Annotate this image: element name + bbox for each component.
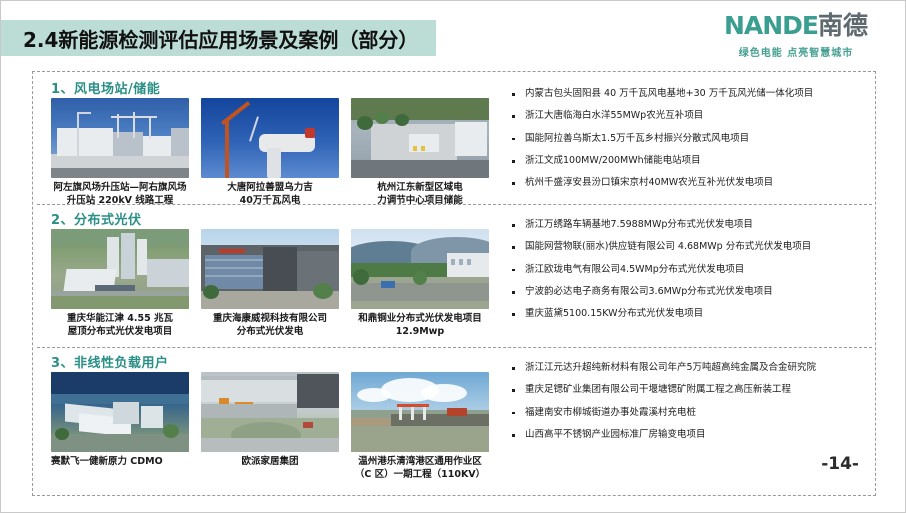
photo-card: 大唐阿拉善盟乌力吉40万千瓦风电 <box>201 98 339 208</box>
photo-caption: 欧派家居集团 <box>201 456 339 469</box>
photo-card: 赛默飞一健新原力 CDMO <box>51 372 189 482</box>
section-wind-storage: 1、风电场站/储能 <box>37 74 872 205</box>
section-nonlinear-load: 3、非线性负载用户 赛默飞一健新原力 CDMO <box>37 348 872 491</box>
photo-factory-campus <box>201 372 339 452</box>
photo-wind-turbine <box>201 98 339 178</box>
card-list: 阿左旗风场升压站—阿右旗风场升压站 220kV 线路工程 大唐阿拉善盟乌力吉40… <box>51 98 491 208</box>
photo-industrial-park <box>51 372 189 452</box>
photo-substation <box>51 98 189 178</box>
brand-logo: NANDE南德 绿色电能 点亮智慧城市 <box>701 13 891 59</box>
section-heading: 1、风电场站/储能 <box>51 78 160 97</box>
page-title: 2.4新能源检测评估应用场景及案例（部分） <box>23 24 418 53</box>
bullet-item: 国能网营物联(丽水)供应链有限公司 4.68MWp 分布式光伏发电项目 <box>509 241 861 253</box>
photo-aerial-city <box>51 229 189 309</box>
bullet-item: 浙江欧珑电气有限公司4.5WMp分布式光伏发电项目 <box>509 264 861 276</box>
section-heading: 3、非线性负载用户 <box>51 352 169 371</box>
photo-card: 重庆海康威视科技有限公司分布式光伏发电 <box>201 229 339 339</box>
bullet-item: 重庆足锶矿业集团有限公司干堰塘锶矿附属工程之高压新装工程 <box>509 384 861 396</box>
card-list: 重庆华能江津 4.55 兆瓦屋顶分布式光伏发电项目 <box>51 229 491 339</box>
photo-card: 重庆华能江津 4.55 兆瓦屋顶分布式光伏发电项目 <box>51 229 189 339</box>
bullet-item: 国能阿拉善乌斯太1.5万千瓦乡村振兴分散式风电项目 <box>509 133 861 145</box>
photo-caption: 温州港乐清湾港区通用作业区（C 区）一期工程（110KV） <box>351 456 489 482</box>
bullet-item: 山西高平不锈钢产业园标准厂房输变电项目 <box>509 429 861 441</box>
brand-logo-latin: NANDE <box>724 11 818 40</box>
bullet-item: 浙江文成100MW/200MWh储能电站项目 <box>509 155 861 167</box>
brand-logo-cn: 南德 <box>818 11 868 40</box>
bullet-item: 浙江大唐临海白水洋55MWp农光互补项目 <box>509 110 861 122</box>
photo-caption: 重庆华能江津 4.55 兆瓦屋顶分布式光伏发电项目 <box>51 313 189 339</box>
photo-card: 欧派家居集团 <box>201 372 339 482</box>
section-heading: 2、分布式光伏 <box>51 209 142 228</box>
photo-caption: 重庆海康威视科技有限公司分布式光伏发电 <box>201 313 339 339</box>
photo-caption: 阿左旗风场升压站—阿右旗风场升压站 220kV 线路工程 <box>51 182 189 208</box>
bullet-item: 浙江万绣路车辆基地7.5988MWp分布式光伏发电项目 <box>509 219 861 231</box>
photo-campus-mountain <box>351 229 489 309</box>
photo-card: 杭州江东新型区域电力调节中心项目储能 <box>351 98 489 208</box>
bullet-item: 内蒙古包头固阳县 40 万千瓦风电基地+30 万千瓦风光储一体化项目 <box>509 88 861 100</box>
bullet-list: 浙江万绣路车辆基地7.5988MWp分布式光伏发电项目 国能网营物联(丽水)供应… <box>509 219 861 331</box>
page-number: -14- <box>821 454 859 474</box>
bullet-item: 福建南安市柳城街道办事处霞溪村充电桩 <box>509 407 861 419</box>
bullet-item: 浙江江元达升超纯新材料有限公司年产5万吨超高纯金属及合金研究院 <box>509 362 861 374</box>
photo-energy-center <box>351 98 489 178</box>
photo-card: 阿左旗风场升压站—阿右旗风场升压站 220kV 线路工程 <box>51 98 189 208</box>
slide-header: 2.4新能源检测评估应用场景及案例（部分） NANDE南德 绿色电能 点亮智慧城… <box>1 1 906 73</box>
bullet-list: 内蒙古包头固阳县 40 万千瓦风电基地+30 万千瓦风光储一体化项目 浙江大唐临… <box>509 88 861 200</box>
photo-office-building <box>201 229 339 309</box>
slide-root: 2.4新能源检测评估应用场景及案例（部分） NANDE南德 绿色电能 点亮智慧城… <box>0 0 906 513</box>
content-frame: 1、风电场站/储能 <box>32 71 876 496</box>
section-distributed-pv: 2、分布式光伏 重庆华能江津 4.55 兆瓦屋顶分布式光伏发电项目 <box>37 205 872 348</box>
card-list: 赛默飞一健新原力 CDMO 欧派家居集 <box>51 372 491 482</box>
bullet-item: 重庆蓝黛5100.15KW分布式光伏发电项目 <box>509 308 861 320</box>
photo-port <box>351 372 489 452</box>
photo-card: 温州港乐清湾港区通用作业区（C 区）一期工程（110KV） <box>351 372 489 482</box>
photo-caption: 赛默飞一健新原力 CDMO <box>51 456 189 469</box>
photo-card: 和鼎铜业分布式光伏发电项目12.9Mwp <box>351 229 489 339</box>
brand-logo-text: NANDE南德 <box>701 13 891 39</box>
bullet-list: 浙江江元达升超纯新材料有限公司年产5万吨超高纯金属及合金研究院 重庆足锶矿业集团… <box>509 362 861 451</box>
photo-caption: 和鼎铜业分布式光伏发电项目12.9Mwp <box>351 313 489 339</box>
bullet-item: 杭州千盛淳安县汾口镇宋京村40MW农光互补光伏发电项目 <box>509 177 861 189</box>
photo-caption: 大唐阿拉善盟乌力吉40万千瓦风电 <box>201 182 339 208</box>
bullet-item: 宁波韵必达电子商务有限公司3.6MWp分布式光伏发电项目 <box>509 286 861 298</box>
photo-caption: 杭州江东新型区域电力调节中心项目储能 <box>351 182 489 208</box>
brand-tagline: 绿色电能 点亮智慧城市 <box>701 44 891 59</box>
title-band: 2.4新能源检测评估应用场景及案例（部分） <box>1 20 436 56</box>
